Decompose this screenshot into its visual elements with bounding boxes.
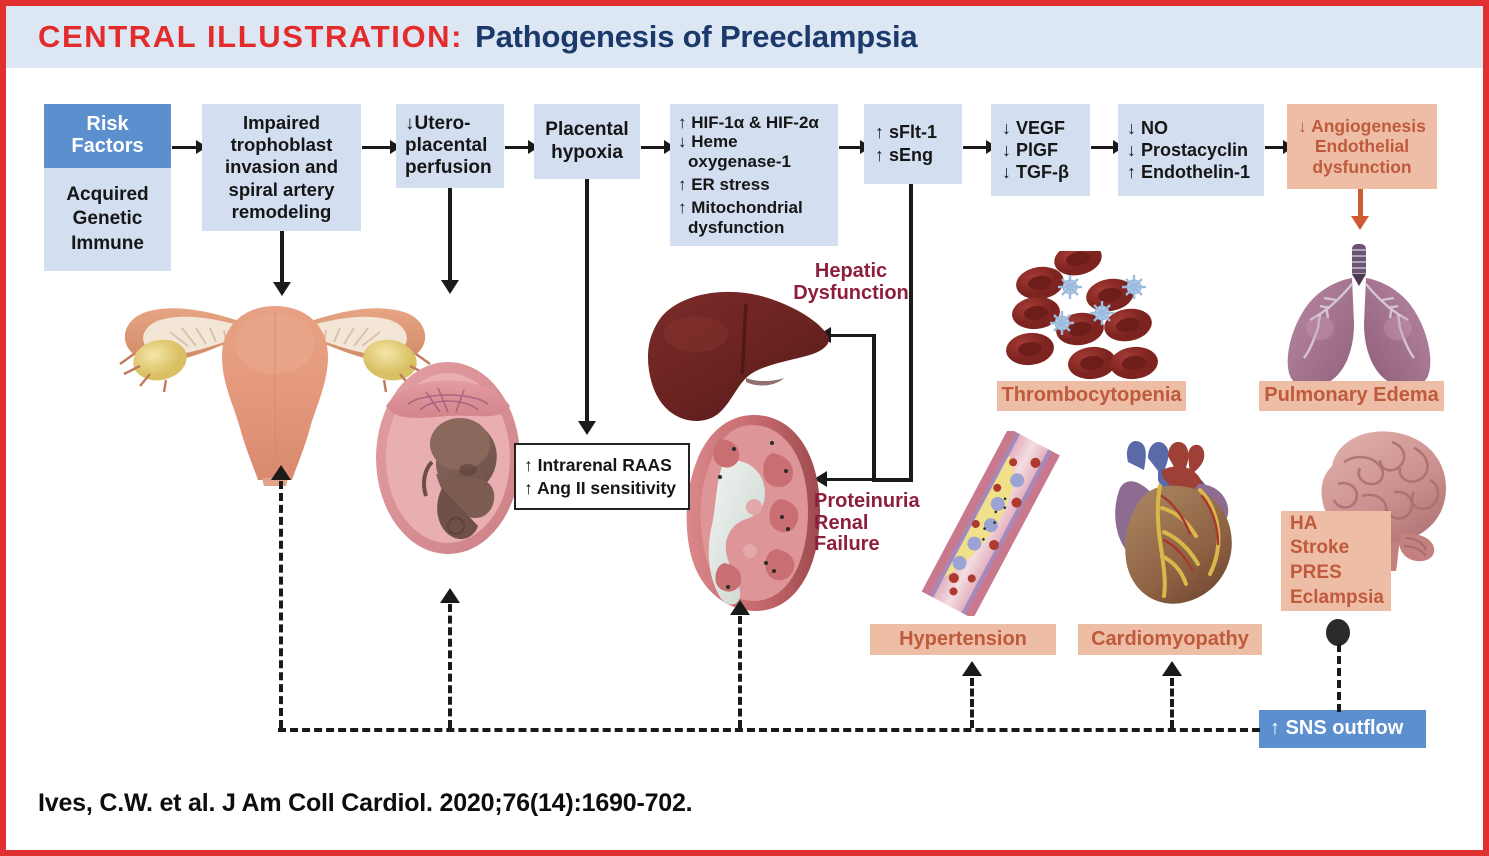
heart-illustration [1102,436,1242,611]
endothelial-line-3: dysfunction [1312,157,1411,177]
thrombocytopenia-label: Thrombocytopenia [997,381,1186,411]
trophoblast-line-5: remodeling [232,201,332,223]
risk-factors-header-line-2: Factors [71,136,143,158]
hypoxia-line-2: hypoxia [551,142,623,165]
cardiomyopathy-label: Cardiomyopathy [1078,624,1262,655]
endothelial-angiogenesis: ↓ Angiogenesis [1298,116,1426,136]
hepatic-dysfunction-label: Hepatic Dysfunction [786,261,916,304]
hepatic-dysfunction-line-1: Hepatic [786,261,916,283]
sns-outflow-box: ↑ SNS outflow [1259,710,1426,748]
vasoactive-endothelin: ↑ Endothelin-1 [1127,161,1250,183]
arrowhead-sns-to-uterus [271,465,291,480]
raas-line-1: ↑ Intrarenal RAAS [524,454,672,476]
connector-sns-to-cardiomyopathy [1170,678,1174,728]
growth-factor-tgfb: ↓ TGF-β [1002,161,1069,183]
vasoactive-prostacyclin: ↓ Prostacyclin [1127,139,1248,161]
connector-sns-main-bus [278,728,1260,732]
fetus-placenta-illustration [368,358,528,558]
connector-sns-to-neuro [1337,644,1341,712]
trophoblast-line-4: spiral artery [229,179,335,201]
connector-kidney-horizontal [826,478,876,481]
vasoactive-mediators-box: ↓ NO ↓ Prostacyclin ↑ Endothelin-1 [1118,104,1264,196]
connector-liver-horizontal [830,334,876,337]
renal-line-1: Proteinuria [814,491,954,513]
connector-sflt-branch-to-liver-bus [872,334,876,482]
neuro-stroke: Stroke [1290,536,1349,561]
kidney-illustration [668,411,828,616]
raas-line-2: ↑ Ang II sensitivity [524,477,676,499]
arrowhead-sns-to-cardiomyopathy [1162,661,1182,676]
antiangiogenic-sflt1: ↑ sFlt-1 [875,121,937,144]
connector-sns-to-kidney [738,616,742,728]
citation-text: Ives, C.W. et al. J Am Coll Cardiol. 202… [38,789,692,818]
hypoxia-effects-box: ↑ HIF-1α & HIF-2α ↓ Heme oxygenase-1 ↑ E… [670,104,838,246]
risk-factor-immune: Immune [71,232,144,256]
hypoxia-effect-heme-cont: oxygenase-1 [678,152,791,171]
connector-perfusion-to-fetus [448,188,452,284]
arrowhead-sns-to-hypertension [962,661,982,676]
vasoactive-no: ↓ NO [1127,117,1168,139]
uteroplacental-perfusion-box: ↓Utero- placental perfusion [396,104,504,188]
perfusion-line-2: placental [405,135,487,157]
figure-title-band: CENTRAL ILLUSTRATION: Pathogenesis of Pr… [6,6,1483,68]
connector-growthfactors-to-vasoactive [1091,146,1114,149]
central-illustration-prefix: CENTRAL ILLUSTRATION: [38,19,463,55]
sns-outflow-text: ↑ SNS outflow [1270,718,1403,740]
antiangiogenic-factors-box: ↑ sFlt-1 ↑ sEng [864,104,962,184]
growth-factors-box: ↓ VEGF ↓ PlGF ↓ TGF-β [991,104,1090,196]
renal-line-3: Failure [814,534,954,556]
hypoxia-line-1: Placental [545,119,628,142]
pulmonary-edema-text: Pulmonary Edema [1264,385,1439,407]
connector-perfusion-to-hypoxia [505,146,529,149]
connector-hypoxia-to-raas [585,179,589,424]
connector-trophoblast-to-perfusion [362,146,391,149]
perfusion-line-3: perfusion [405,157,492,179]
hypoxia-effect-hif: ↑ HIF-1α & HIF-2α [678,113,819,132]
hypoxia-effect-heme: ↓ Heme [678,132,738,151]
arrowhead-sns-to-kidney [730,600,750,615]
sns-origin-dot [1326,619,1350,646]
page-title: Pathogenesis of Preeclampsia [475,19,917,55]
impaired-trophoblast-box: Impaired trophoblast invasion and spiral… [202,104,361,231]
hypoxia-effect-er-stress: ↑ ER stress [678,175,770,194]
renal-line-2: Renal [814,513,954,535]
neuro-eclampsia: Eclampsia [1290,586,1384,611]
blood-cells-illustration [1006,251,1176,381]
risk-factor-acquired: Acquired [66,183,148,207]
arrowhead-sns-to-placenta [440,588,460,603]
risk-factors-header-line-1: Risk [86,114,128,136]
trophoblast-line-2: trophoblast [231,134,333,156]
lungs-illustration [1274,244,1444,394]
connector-endothelial-to-lungs [1358,189,1363,219]
connector-hypoxia-to-effects [641,146,665,149]
risk-factors-header: Risk Factors [44,104,171,168]
arrowhead-endothelial-to-lungs [1351,216,1369,230]
thrombocytopenia-text: Thrombocytopenia [1001,385,1181,407]
cardiomyopathy-text: Cardiomyopathy [1091,629,1249,651]
perfusion-line-1: ↓Utero- [405,113,470,135]
connector-sflt-branch-join [872,478,913,482]
connector-vasoactive-to-endothelial [1265,146,1284,149]
intrarenal-raas-box: ↑ Intrarenal RAAS ↑ Ang II sensitivity [514,443,690,510]
endothelial-line-2: Endothelial [1315,136,1409,156]
connector-effects-to-sflt [839,146,861,149]
neuro-ha: HA [1290,512,1317,537]
placental-hypoxia-box: Placental hypoxia [534,104,640,179]
antiangiogenic-seng: ↑ sEng [875,144,933,167]
connector-sflt-to-growthfactors [963,146,987,149]
growth-factor-plgf: ↓ PlGF [1002,139,1058,161]
connector-sns-to-uterus [279,481,283,728]
hypertension-text: Hypertension [899,629,1027,651]
hypertension-label: Hypertension [870,624,1056,655]
renal-outcome-label: Proteinuria Renal Failure [814,491,954,556]
hypoxia-effect-mito-cont: dysfunction [678,218,784,237]
hypoxia-effect-mito: ↑ Mitochondrial [678,198,803,217]
connector-risk-to-trophoblast [172,146,197,149]
arrowhead-hypoxia-to-raas [578,421,596,435]
connector-sns-to-placenta [448,604,452,728]
central-illustration-figure: CENTRAL ILLUSTRATION: Pathogenesis of Pr… [0,0,1489,856]
connector-sflt-branch-vertical [909,184,913,481]
connector-trophoblast-to-uterus [280,231,284,286]
trophoblast-line-1: Impaired [243,112,320,134]
connector-sns-to-hypertension [970,678,974,728]
risk-factor-genetic: Genetic [73,207,143,231]
hepatic-dysfunction-line-2: Dysfunction [786,283,916,305]
trophoblast-line-3: invasion and [225,156,338,178]
neuro-pres: PRES [1290,561,1342,586]
neuro-outcomes-box: HA Stroke PRES Eclampsia [1281,511,1391,611]
growth-factor-vegf: ↓ VEGF [1002,117,1065,139]
pulmonary-edema-label: Pulmonary Edema [1259,381,1444,411]
risk-factors-box: Risk Factors Acquired Genetic Immune [44,104,171,271]
arrowhead-perfusion-to-fetus [441,280,459,294]
endothelial-dysfunction-box: ↓ Angiogenesis Endothelial dysfunction [1287,104,1437,189]
